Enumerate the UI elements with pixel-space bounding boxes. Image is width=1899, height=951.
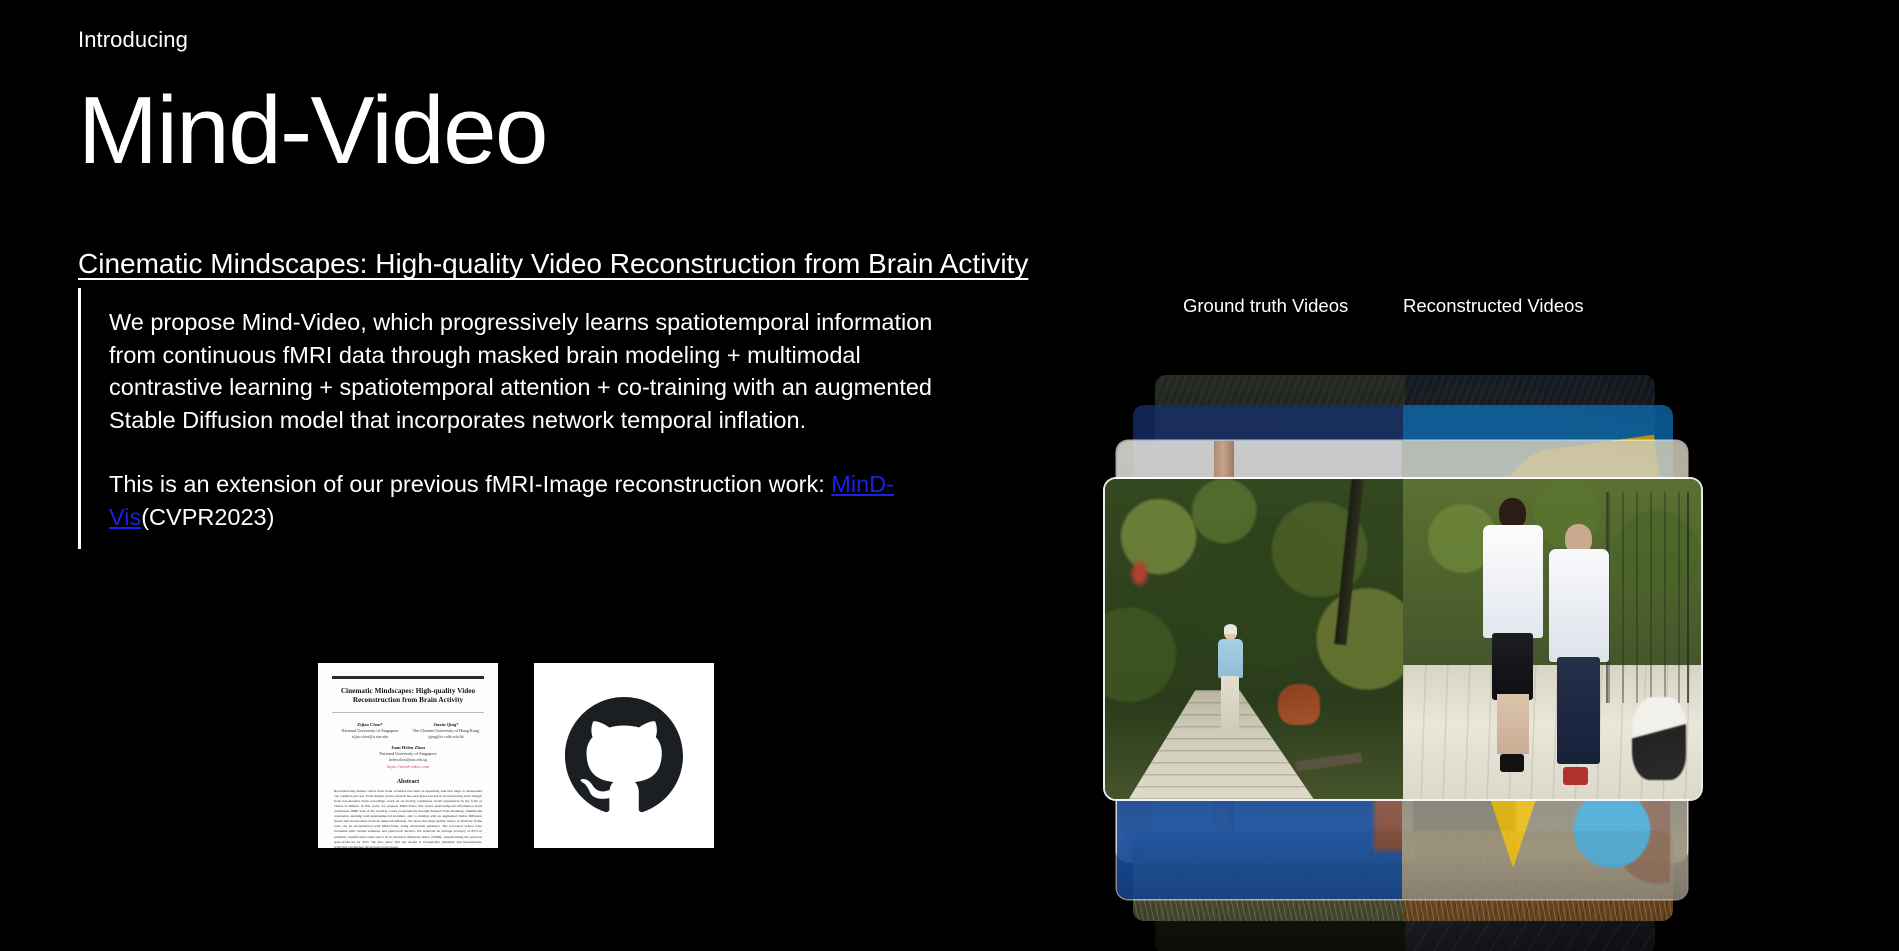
description-blockquote: We propose Mind-Video, which progressive… [78,288,958,549]
label-ground-truth: Ground truth Videos [1183,295,1348,317]
paper-page: Cinematic Mindscapes: High-quality Video… [318,663,498,848]
figure-pants [1221,676,1239,735]
paper-title: Cinematic Mindscapes: High-quality Video… [332,687,484,706]
paper-title-rule [332,712,484,713]
figure-shoe [1563,767,1588,785]
video-half-reconstructed [1403,479,1701,799]
page-header: Introducing Mind-Video Cinematic Mindsca… [78,27,1028,281]
video-showcase: Ground truth Videos Reconstructed Videos [1105,295,1825,895]
video-half-ground-truth [1105,479,1403,799]
paper-author-1: Zijiao Chen* National University of Sing… [334,722,407,740]
paragraph-method: We propose Mind-Video, which progressive… [109,306,958,436]
github-icon [565,697,683,815]
jogger-figure-2 [1549,524,1609,780]
page-subtitle[interactable]: Cinematic Mindscapes: High-quality Video… [78,247,1028,281]
video-card-active[interactable] [1105,479,1701,799]
figure-shoe [1500,754,1524,773]
figure-shirt [1218,639,1243,678]
dog-figure [1632,697,1686,780]
paper-top-rule [332,676,484,679]
paragraph-extension: This is an extension of our previous fMR… [109,468,958,533]
author-email: jqing@ie.cuhk.edu.hk [410,734,483,740]
eyebrow-text: Introducing [78,27,1028,53]
walking-man-figure [1215,626,1245,735]
paper-thumbnail[interactable]: Cinematic Mindscapes: High-quality Video… [318,663,498,848]
thumbnail-row: Cinematic Mindscapes: High-quality Video… [318,663,714,848]
description-column: We propose Mind-Video, which progressive… [78,288,958,549]
paper-abstract-text: Reconstructing human vision from brain a… [332,789,484,848]
figure-shirt [1549,549,1609,662]
figure-legs [1497,694,1529,753]
video-card-stack [1105,375,1805,855]
extension-text-suffix: (CVPR2023) [141,504,274,530]
extension-text-prefix: This is an extension of our previous fMR… [109,471,831,497]
jogger-figure-1 [1483,498,1543,767]
paper-corresponding-author: Juan Helen Zhou National University of S… [332,745,484,770]
paper-project-url: https://mind-video.com [332,763,484,770]
paper-author-2: Jiaxin Qing* The Chinese University of H… [410,722,483,740]
flower-detail [1132,562,1147,584]
figure-hair [1224,624,1238,634]
gate-detail [1606,492,1689,703]
figure-pants [1557,657,1600,765]
author-email: zijiao.chen@u.nus.edu [334,734,407,740]
label-reconstructed: Reconstructed Videos [1403,295,1584,317]
page-title: Mind-Video [78,79,1028,183]
paper-abstract-heading: Abstract [332,779,484,785]
figure-shorts [1492,633,1534,700]
figure-shirt [1483,525,1543,638]
paper-author-row: Zijiao Chen* National University of Sing… [332,722,484,740]
page-root: Introducing Mind-Video Cinematic Mindsca… [0,0,1899,951]
github-thumbnail[interactable] [534,663,714,848]
dog-figure [1278,684,1320,726]
